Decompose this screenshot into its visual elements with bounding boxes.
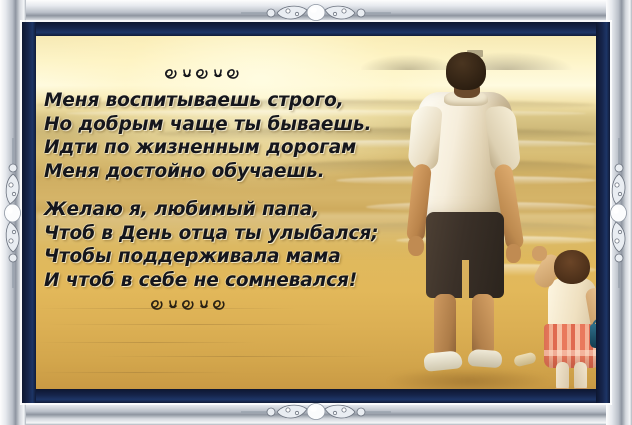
daughter-figure — [536, 250, 596, 389]
frame-bevel-bottom — [20, 403, 612, 405]
daughter-head — [554, 250, 590, 284]
father-left-shoe — [423, 350, 463, 372]
frame-inner-right — [596, 22, 610, 403]
poem-line: Но добрым чаще ты бываешь. — [44, 113, 394, 137]
father-right-leg — [472, 294, 494, 356]
father-left-sleeve — [407, 105, 442, 171]
father-left-hand — [408, 236, 424, 256]
father-head — [446, 52, 486, 90]
sand-streak — [96, 356, 376, 357]
frame-inner-top — [22, 22, 610, 36]
daughter-raised-hand — [532, 246, 547, 261]
poem-stanza: Меня воспитываешь строго, Но добрым чаще… — [44, 89, 394, 183]
sand-streak — [36, 342, 256, 343]
frame-bevel-right — [610, 20, 612, 405]
poem-block: Меня воспитываешь строго, Но добрым чаще… — [44, 64, 394, 317]
father-right-hand — [506, 244, 521, 263]
poem-line: Желаю я, любимый папа, — [44, 198, 394, 222]
daughter-skirt — [544, 324, 596, 368]
poem-line: Меня воспитываешь строго, — [44, 89, 394, 113]
frame-bevel-left — [20, 20, 22, 405]
father-left-leg — [434, 294, 456, 358]
father-right-sleeve — [485, 105, 522, 174]
greeting-card: Меня воспитываешь строго, Но добрым чаще… — [0, 0, 632, 425]
frame-bevel-top — [20, 20, 612, 22]
poem-line: Чтоб в День отца ты улыбался; — [44, 222, 394, 246]
father-right-shoe — [467, 349, 502, 368]
sand-streak — [36, 372, 236, 373]
frame-inner-bottom — [22, 389, 610, 403]
flourish-divider-bottom — [148, 295, 394, 317]
father-figure — [410, 52, 522, 382]
poem-stanza: Желаю я, любимый папа, Чтоб в День отца … — [44, 198, 394, 292]
daughter-skirt-band — [544, 350, 596, 356]
poem-line: Меня достойно обучаешь. — [44, 160, 394, 184]
poem-line: Идти по жизненным дорогам — [44, 136, 394, 160]
father-shorts-gap — [462, 260, 469, 300]
daughter-right-leg — [574, 362, 587, 389]
frame-inner-left — [22, 22, 36, 403]
poem-line: И чтоб в себе не сомневался! — [44, 269, 394, 293]
flourish-divider-top — [162, 64, 394, 86]
daughter-left-leg — [556, 362, 569, 389]
sand-streak — [46, 324, 346, 325]
poem-line: Чтобы поддерживала мама — [44, 245, 394, 269]
